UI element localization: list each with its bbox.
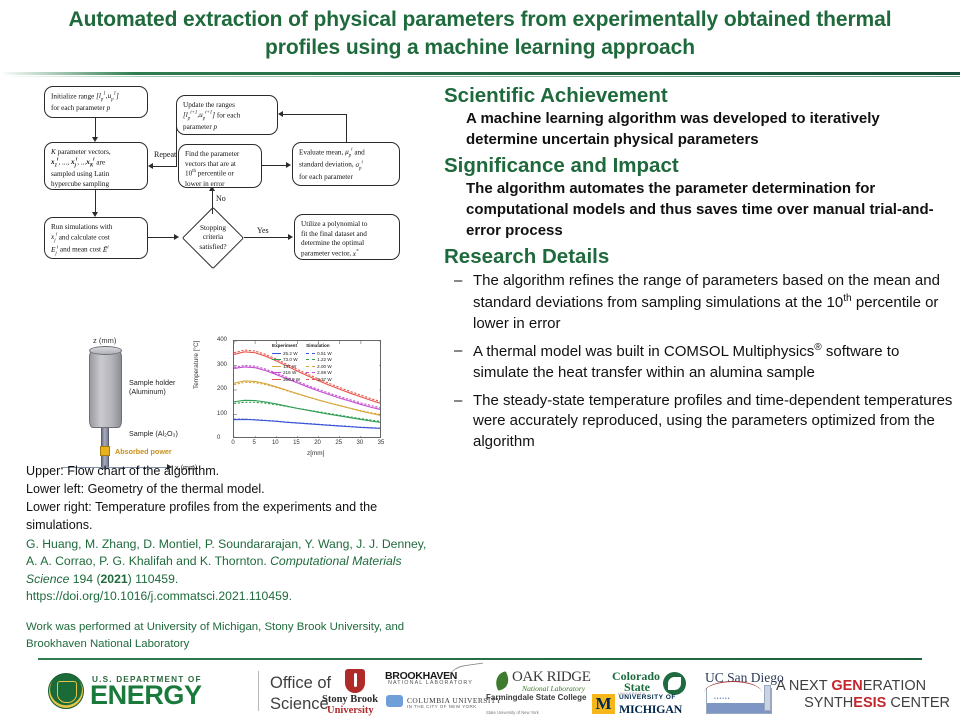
algorithm-flowchart: Initialize range [lp1,up1]for each param… <box>26 86 436 336</box>
flow-arrow-4-head <box>286 162 291 168</box>
flow-box-polynomial-fit: Utilize a polynomial tofit the final dat… <box>294 214 400 260</box>
legend-entry-simulation: 1.22 W <box>303 357 335 364</box>
ngsc-l2-a: SYNTH <box>804 695 853 711</box>
list-dash: – <box>454 271 473 334</box>
flow-arrow-5-h <box>282 114 347 115</box>
caption-line-2: Lower left: Geometry of the thermal mode… <box>26 480 436 498</box>
ngsc-l1-c: ERATION <box>863 678 926 694</box>
flow-arrow-yes-head <box>288 234 293 240</box>
caption-line-1: Upper: Flow chart of the algorithm. <box>26 462 436 480</box>
slide-root: Automated extraction of physical paramet… <box>0 0 960 720</box>
research-details-list: – The algorithm refines the range of par… <box>444 271 954 453</box>
doe-seal-inner-icon <box>57 681 77 703</box>
list-item: – The algorithm refines the range of par… <box>454 271 954 334</box>
flow-arrow-5-v <box>346 114 347 142</box>
chart-x-tick: 30 <box>357 440 364 446</box>
ngsc-line2: SYNTHESIS CENTER <box>776 695 956 712</box>
list-item: – A thermal model was built in COMSOL Mu… <box>454 341 954 383</box>
flow-arrow-1 <box>95 118 96 139</box>
legend-header-experiment: Experiment <box>269 343 303 351</box>
holder-label-line1: Sample holder <box>129 378 175 387</box>
title-divider-secondary <box>0 76 960 77</box>
flow-arrow-no <box>212 190 213 214</box>
flow-arrow-3 <box>148 237 176 238</box>
ucsd-tower-icon <box>764 685 771 711</box>
reference-year: 2021 <box>101 572 128 586</box>
flow-arrow-4 <box>262 165 288 166</box>
list-text: The steady-state temperature profiles an… <box>473 391 954 453</box>
flow-box-evaluate: Evaluate mean, μpi and standard deviatio… <box>292 142 400 186</box>
flow-arrow-repeat-h <box>152 166 177 167</box>
chart-x-tick: 35 <box>378 440 385 446</box>
chart-x-axis-label: z[mm] <box>307 450 324 457</box>
office-line1: Office of <box>270 673 331 694</box>
sample-label: Sample (Al₂O₃) <box>129 429 178 438</box>
ngsc-line1: A NEXT GENERATION <box>776 678 956 695</box>
sample-holder-top-ellipse <box>89 346 122 355</box>
oak-ridge-line2: National Laboratory <box>522 684 585 693</box>
list-dash: – <box>454 391 473 453</box>
legend-table: ExperimentSimulation25.2 W0.51 W73.0 W1.… <box>269 343 335 383</box>
absorbed-power-region <box>100 446 110 456</box>
michigan-line1: UNIVERSITY OF <box>619 694 676 701</box>
chart-y-axis-label: Temperature [°C] <box>193 341 200 389</box>
list-text: A thermal model was built in COMSOL Mult… <box>473 341 954 383</box>
flow-arrow-repeat <box>176 115 177 167</box>
left-column: Initialize range [lp1,up1]for each param… <box>0 84 440 654</box>
sample-holder-body <box>89 350 122 428</box>
holder-label-line2: (Aluminum) <box>129 387 166 396</box>
title-block: Automated extraction of physical paramet… <box>0 6 960 61</box>
flow-arrow-yes <box>244 237 290 238</box>
chart-x-tick: 0 <box>231 440 234 446</box>
list-item: – The steady-state temperature profiles … <box>454 391 954 453</box>
section-heading-research-details: Research Details <box>444 245 954 269</box>
figure-captions: Upper: Flow chart of the algorithm. Lowe… <box>26 462 436 652</box>
columbia-line2: IN THE CITY OF NEW YORK <box>407 704 477 709</box>
section-heading-achievement: Scientific Achievement <box>444 84 954 108</box>
farmingdale-line2: State University of New York <box>486 710 539 715</box>
stony-brook-line1: Stony Brook <box>322 694 378 705</box>
absorbed-power-label: Absorbed power <box>115 447 172 456</box>
section-body-achievement: A machine learning algorithm was develop… <box>444 109 954 150</box>
doe-label-line2: ENERGY <box>90 682 202 709</box>
ngsc-l2-b: ESIS <box>853 695 886 711</box>
chart-x-tick: 15 <box>293 440 300 446</box>
flow-box-sample: K parameter vectors, x1i, ..., xji, ...x… <box>44 142 148 190</box>
ngsc-l1-a: A NEXT <box>776 678 831 694</box>
chart-x-tick: 20 <box>314 440 321 446</box>
diamond-label: Stoppingcriteriasatisfied? <box>182 224 244 252</box>
legend-header-simulation: Simulation <box>303 343 335 351</box>
ngsc-l2-c: CENTER <box>886 695 950 711</box>
ngsc-logo: A NEXT GENERATION SYNTHESIS CENTER <box>776 678 956 713</box>
section-heading-significance: Significance and Impact <box>444 154 954 178</box>
geometry-z-axis-label: z (mm) <box>93 336 116 345</box>
legend-entry-simulation: 3.37 W <box>303 377 335 384</box>
chart-legend: ExperimentSimulation25.2 W0.51 W73.0 W1.… <box>269 343 335 383</box>
reference-journal: Computational Materials Science <box>26 554 402 585</box>
thermal-model-geometry: z (mm) x (mm) Sample holder (Aluminum) S… <box>45 336 205 461</box>
stony-brook-shield-icon <box>345 669 365 693</box>
flow-box-initialize: Initialize range [lp1,up1]for each param… <box>44 86 148 118</box>
title-divider <box>0 72 960 75</box>
reference-citation: G. Huang, M. Zhang, D. Montiel, P. Sound… <box>26 536 436 605</box>
flow-arrow-3-head <box>174 234 179 240</box>
colorado-ram-icon <box>663 672 686 695</box>
stony-brook-line2: University <box>327 705 374 716</box>
chart-series-6 <box>234 402 381 421</box>
flow-label-no: No <box>216 194 226 203</box>
flow-box-find-vectors: Find the parametervectors that are at10t… <box>178 144 262 188</box>
work-performed-note: Work was performed at University of Mich… <box>26 619 436 651</box>
flow-box-update-ranges: Update the ranges [lpi+1,upi+1] for each… <box>176 95 278 135</box>
ngsc-l1-b: GEN <box>831 678 862 694</box>
flow-label-yes: Yes <box>257 226 269 235</box>
legend-entry-experiment: 360.0 W <box>269 377 303 384</box>
columbia-crown-icon <box>386 695 403 707</box>
temperature-profile-chart: Temperature [°C] z[mm] 0100200300400 051… <box>195 334 395 464</box>
oak-ridge-leaf-icon <box>493 671 512 691</box>
flow-arrow-2 <box>95 190 96 214</box>
chart-x-tick: 25 <box>335 440 342 446</box>
legend-row: 360.0 W3.37 W <box>269 377 335 384</box>
list-dash: – <box>454 341 473 383</box>
brookhaven-swoosh-icon <box>447 663 484 680</box>
section-body-significance: The algorithm automates the parameter de… <box>444 179 954 241</box>
farmingdale-line1: Farmingdale State College <box>486 694 586 703</box>
flow-arrow-5-head <box>278 111 283 117</box>
right-column: Scientific Achievement A machine learnin… <box>444 84 954 656</box>
flow-label-repeat: Repeat <box>154 150 176 159</box>
chart-x-tick: 5 <box>252 440 255 446</box>
flow-arrow-repeat-head <box>148 163 153 169</box>
footer-divider <box>38 658 922 660</box>
legend-entry-simulation: 2.69 W <box>303 370 335 377</box>
ucsd-windows-icon: •••••• <box>714 696 731 702</box>
michigan-line2: MICHIGAN <box>619 702 682 717</box>
page-title: Automated extraction of physical paramet… <box>0 6 960 61</box>
caption-line-3: Lower right: Temperature profiles from t… <box>26 498 436 534</box>
doe-divider <box>258 671 259 711</box>
doe-seal-icon <box>48 673 84 709</box>
brookhaven-line2: NATIONAL LABORATORY <box>388 680 473 686</box>
michigan-block-m-icon: M <box>592 694 615 714</box>
chart-x-tick: 10 <box>272 440 279 446</box>
list-text: The algorithm refines the range of param… <box>473 271 954 334</box>
flow-diamond-stopping-criteria: Stoppingcriteriasatisfied? <box>182 214 244 262</box>
flow-box-run-simulations: Run simulations with xji and calculate c… <box>44 217 148 259</box>
